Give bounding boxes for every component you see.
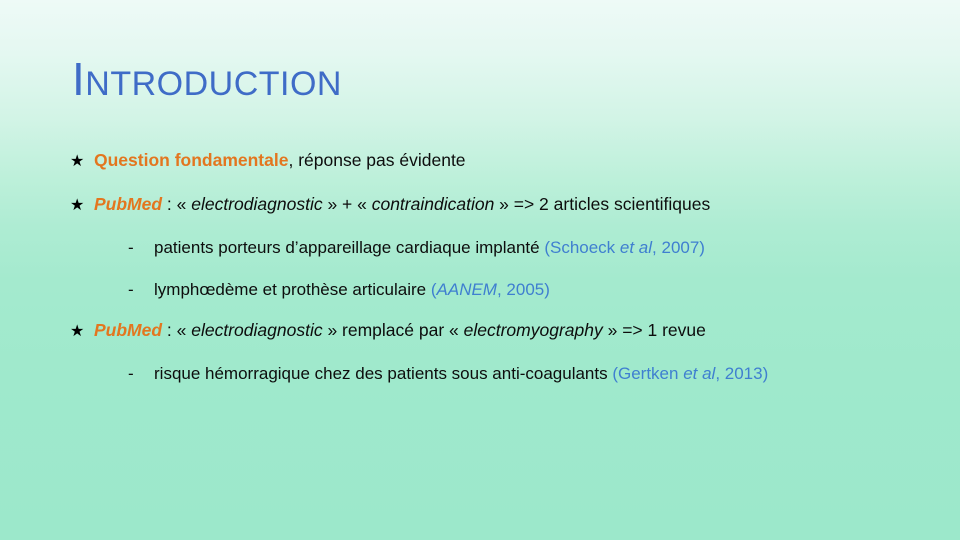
bullet-6-segment-0: risque hémorragique chez des patients so… <box>154 364 612 383</box>
citation-gertken: (Gertken <box>612 364 683 383</box>
bullet-5-segment-1: : « <box>162 320 191 340</box>
bullet-3-segment-0: patients porteurs d’appareillage cardiaq… <box>154 238 544 257</box>
page-title: INTRODUCTION <box>72 56 342 107</box>
bullet-2-segment-3: » + « <box>323 194 372 214</box>
presentation-slide: INTRODUCTION ★Question fondamentale, rép… <box>0 0 960 540</box>
slide-body: ★Question fondamentale, réponse pas évid… <box>70 150 958 407</box>
page-title-initial: I <box>72 53 85 105</box>
bullet-2-segment-5: » => 2 articles scientifiques <box>494 194 710 214</box>
bullet-5-segment-2: electrodiagnostic <box>191 320 322 340</box>
citation-gertken-year: , 2013) <box>715 364 768 383</box>
bullet-2-segment-0: PubMed <box>94 194 162 214</box>
list-item: ★PubMed : « electrodiagnostic » + « cont… <box>70 194 958 216</box>
page-title-rest: NTRODUCTION <box>85 65 342 103</box>
star-bullet-icon: ★ <box>70 196 94 216</box>
citation-aanem-name: AANEM <box>437 280 497 299</box>
bullet-2-segment-4: contraindication <box>372 194 495 214</box>
list-item: ★PubMed : « electrodiagnostic » remplacé… <box>70 320 958 342</box>
list-item: -patients porteurs d’appareillage cardia… <box>70 238 958 258</box>
dash-bullet-icon: - <box>128 238 154 258</box>
bullet-1-segment-1: , réponse pas évidente <box>288 150 465 170</box>
bullet-5-segment-4: electromyography <box>464 320 603 340</box>
bullet-5-segment-3: » remplacé par « <box>323 320 464 340</box>
citation-schoeck-year: , 2007) <box>652 238 705 257</box>
citation-schoeck: (Schoeck <box>544 238 620 257</box>
citation-schoeck-etal: et al <box>620 238 652 257</box>
star-bullet-icon: ★ <box>70 152 94 172</box>
dash-bullet-icon: - <box>128 280 154 300</box>
bullet-1-segment-0: Question fondamentale <box>94 150 288 170</box>
citation-aanem-year: , 2005) <box>497 280 550 299</box>
list-item: -risque hémorragique chez des patients s… <box>70 364 958 384</box>
citation-gertken-etal: et al <box>683 364 715 383</box>
bullet-5-segment-5: » => 1 revue <box>603 320 706 340</box>
star-bullet-icon: ★ <box>70 322 94 342</box>
bullet-2-segment-2: electrodiagnostic <box>191 194 322 214</box>
dash-bullet-icon: - <box>128 364 154 384</box>
list-item: -lymphœdème et prothèse articulaire (AAN… <box>70 280 958 300</box>
bullet-4-segment-0: lymphœdème et prothèse articulaire <box>154 280 431 299</box>
list-item: ★Question fondamentale, réponse pas évid… <box>70 150 958 172</box>
bullet-2-segment-1: : « <box>162 194 191 214</box>
bullet-5-segment-0: PubMed <box>94 320 162 340</box>
